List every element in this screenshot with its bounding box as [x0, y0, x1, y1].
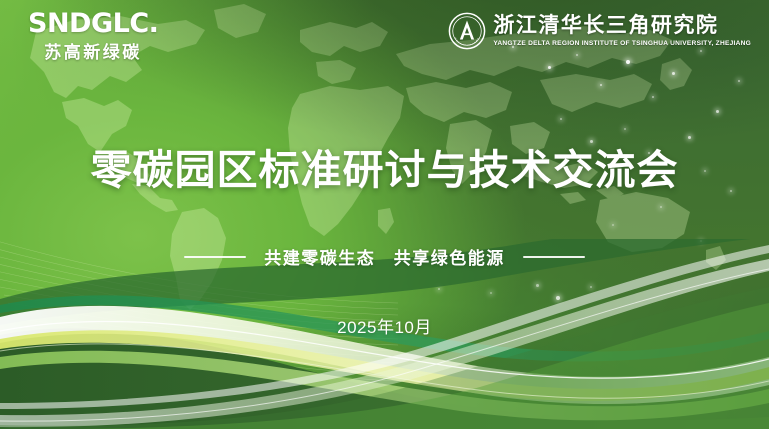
- brand-cn-text: 苏高新绿碳: [28, 44, 158, 61]
- institute-name-en: YANGTZE DELTA REGION INSTITUTE OF TSINGH…: [493, 41, 751, 48]
- institute-logo: 浙江清华长三角研究院 YANGTZE DELTA REGION INSTITUT…: [448, 12, 751, 50]
- sparkle-icon: [560, 118, 562, 120]
- page-title: 零碳园区标准研讨与技术交流会: [0, 148, 769, 193]
- sparkle-icon: [672, 72, 675, 75]
- sparkle-icon: [612, 224, 614, 226]
- subtitle-row: 共建零碳生态 共享绿色能源: [0, 244, 769, 269]
- institute-text-block: 浙江清华长三角研究院 YANGTZE DELTA REGION INSTITUT…: [493, 15, 751, 48]
- event-date: 2025年10月: [0, 313, 769, 338]
- sparkle-icon: [688, 136, 691, 139]
- sparkle-icon: [700, 50, 702, 52]
- sparkle-icon: [590, 140, 593, 143]
- sparkle-icon: [738, 80, 740, 82]
- sparkle-icon: [652, 96, 654, 98]
- tsinghua-yrdi-emblem-icon: [448, 12, 486, 50]
- decorative-rule-left: [184, 256, 246, 258]
- brand-en-text: SNDGLC.: [28, 10, 158, 37]
- sndglc-logo: SNDGLC. 苏高新绿碳: [28, 10, 158, 61]
- sparkle-icon: [548, 66, 551, 69]
- decorative-rule-right: [523, 256, 585, 258]
- institute-name-cn: 浙江清华长三角研究院: [493, 15, 751, 37]
- presentation-slide: SNDGLC. 苏高新绿碳 浙江清华长三角研究院 YANGTZE DELTA R…: [0, 0, 769, 429]
- sparkle-icon: [600, 84, 602, 86]
- sparkle-icon: [716, 110, 719, 113]
- sparkle-icon: [576, 54, 578, 56]
- sparkle-icon: [660, 206, 662, 208]
- subtitle: 共建零碳生态 共享绿色能源: [264, 244, 505, 269]
- sparkle-icon: [624, 128, 626, 130]
- sparkle-icon: [626, 60, 630, 64]
